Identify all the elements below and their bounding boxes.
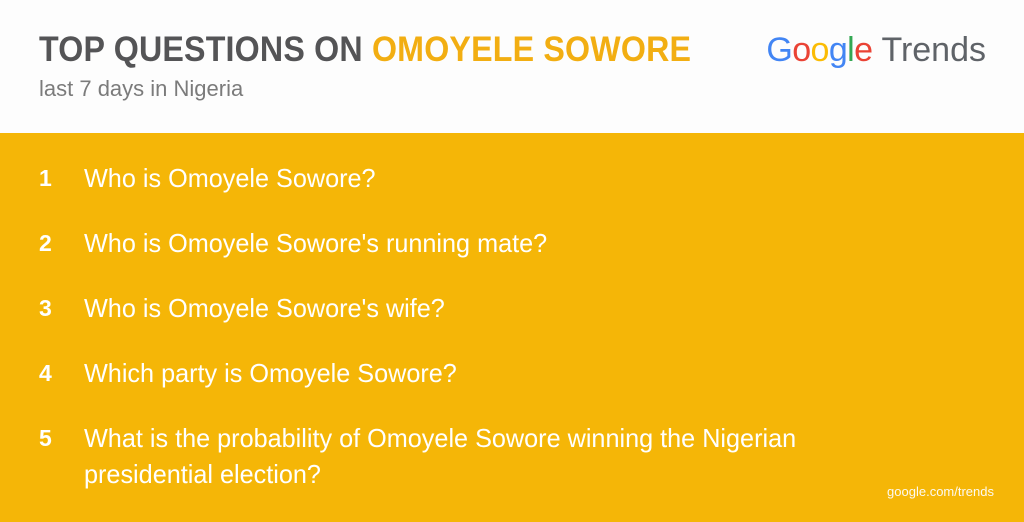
list-item: 3 Who is Omoyele Sowore's wife? xyxy=(39,290,994,326)
card-header: TOP QUESTIONS ON OMOYELE SOWORE last 7 d… xyxy=(0,0,1024,133)
logo-letter-o-yellow: o xyxy=(811,31,829,69)
question-text: What is the probability of Omoyele Sowor… xyxy=(84,420,889,492)
questions-list: 1 Who is Omoyele Sowore? 2 Who is Omoyel… xyxy=(39,160,994,492)
question-rank: 3 xyxy=(39,290,84,326)
questions-panel: 1 Who is Omoyele Sowore? 2 Who is Omoyel… xyxy=(0,133,1024,522)
logo-letter-g-blue-2: g xyxy=(829,31,847,69)
question-rank: 5 xyxy=(39,420,84,456)
question-rank: 4 xyxy=(39,355,84,391)
logo-letter-o-red: o xyxy=(792,31,810,69)
source-url: google.com/trends xyxy=(887,484,994,500)
question-text: Who is Omoyele Sowore? xyxy=(84,160,889,196)
list-item: 4 Which party is Omoyele Sowore? xyxy=(39,355,994,391)
google-trends-logo: GoogleTrends xyxy=(766,30,986,70)
page-title-lead: TOP QUESTIONS ON xyxy=(39,30,372,69)
page-title: TOP QUESTIONS ON OMOYELE SOWORE xyxy=(39,30,691,70)
page-subtitle: last 7 days in Nigeria xyxy=(39,75,748,103)
page-title-topic: OMOYELE SOWORE xyxy=(372,30,691,69)
title-block: TOP QUESTIONS ON OMOYELE SOWORE last 7 d… xyxy=(39,30,748,103)
question-rank: 2 xyxy=(39,225,84,261)
list-item: 2 Who is Omoyele Sowore's running mate? xyxy=(39,225,994,261)
logo-letter-g-blue: G xyxy=(766,31,792,69)
question-text: Who is Omoyele Sowore's running mate? xyxy=(84,225,889,261)
question-rank: 1 xyxy=(39,160,84,196)
question-text: Which party is Omoyele Sowore? xyxy=(84,355,889,391)
trends-top-questions-card: TOP QUESTIONS ON OMOYELE SOWORE last 7 d… xyxy=(0,0,1024,522)
list-item: 5 What is the probability of Omoyele Sow… xyxy=(39,420,994,492)
logo-letter-e-red: e xyxy=(854,31,872,69)
question-text: Who is Omoyele Sowore's wife? xyxy=(84,290,889,326)
logo-word-trends: Trends xyxy=(881,31,986,69)
list-item: 1 Who is Omoyele Sowore? xyxy=(39,160,994,196)
